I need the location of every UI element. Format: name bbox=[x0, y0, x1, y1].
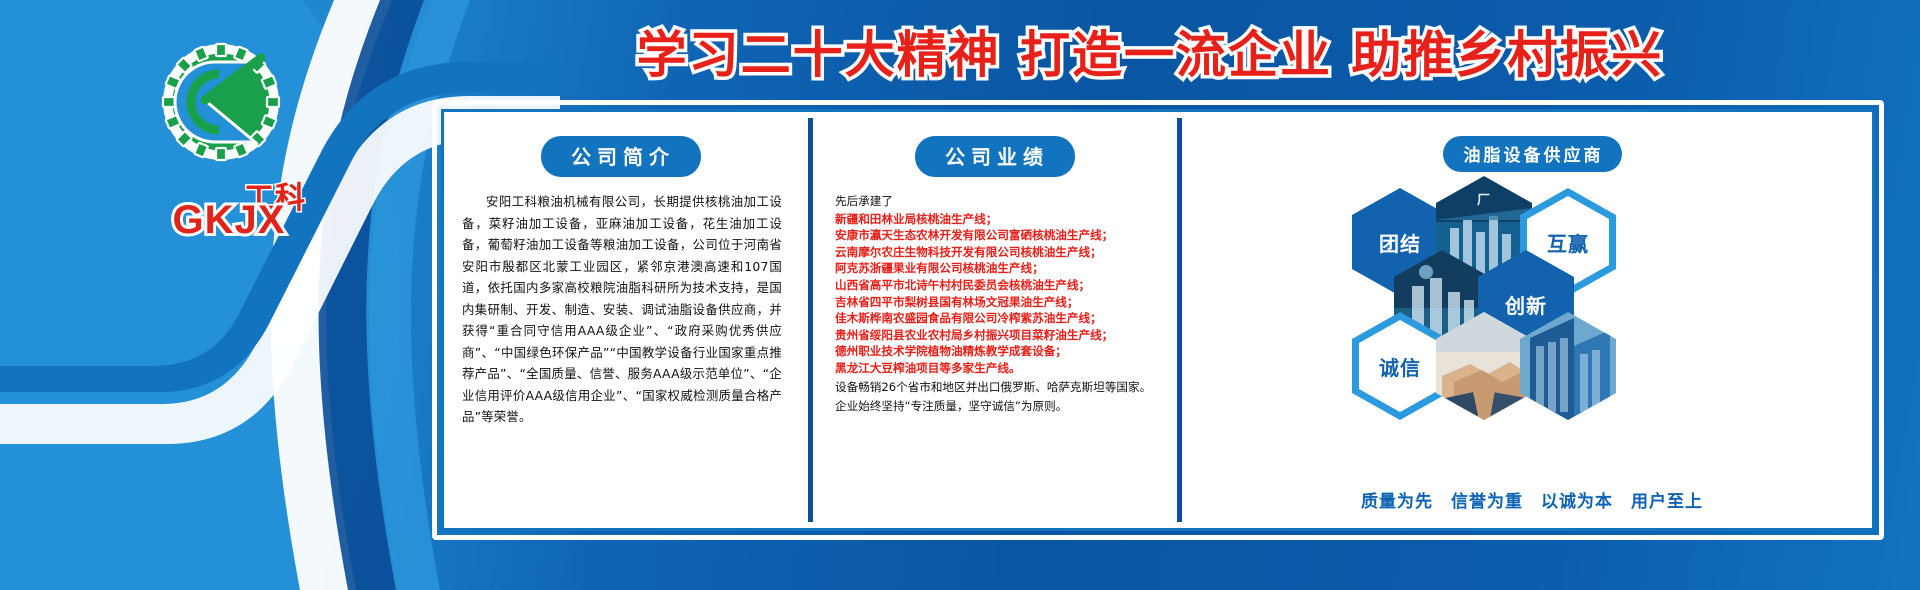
slogan-phrase: 信誉为重 bbox=[1451, 492, 1523, 512]
performance-item: 吉林省四平市梨树县国有林场文冠果油生产线； bbox=[835, 294, 1157, 311]
performance-item: 佳木斯桦南农盛园食品有限公司冷榨紫苏油生产线； bbox=[835, 310, 1157, 327]
performance-lead: 先后承建了 bbox=[835, 193, 1157, 210]
logo-en-text: GKJX bbox=[134, 198, 324, 243]
performance-item: 贵州省绥阳县农业农村局乡村振兴项目菜籽油生产线； bbox=[835, 327, 1157, 344]
hexagon-cluster: 团结 bbox=[1194, 182, 1870, 407]
supplier-slogan: 质量为先信誉为重以诚为本用户至上 bbox=[1194, 487, 1870, 512]
performance-item: 黑龙江大豆榨油项目等多家生产线。 bbox=[835, 360, 1157, 377]
performance-item: 安康市瀛天生态农林开发有限公司富硒核桃油生产线； bbox=[835, 227, 1157, 244]
svg-text:厂: 厂 bbox=[1477, 193, 1491, 208]
performance-list: 新疆和田林业局核桃油生产线；安康市瀛天生态农林开发有限公司富硒核桃油生产线；云南… bbox=[835, 211, 1157, 377]
performance-footer: 设备畅销26个省市和地区并出口俄罗斯、哈萨克斯坦等国家。企业始终坚持“专注质量，… bbox=[835, 379, 1157, 415]
performance-footer-line: 企业始终坚持“专注质量，坚守诚信”为原则。 bbox=[835, 398, 1157, 415]
panel-supplier-title: 油脂设备供应商 bbox=[1443, 136, 1622, 172]
content-frame: 公司简介 安阳工科粮油机械有限公司，长期提供核桃油加工设备，菜籽油加工设备，亚麻… bbox=[432, 100, 1884, 540]
hexagon-label: 创新 bbox=[1505, 290, 1547, 319]
panel-performance-title: 公司业绩 bbox=[915, 136, 1075, 177]
hexagon-label: 诚信 bbox=[1379, 352, 1421, 381]
poster-canvas: 工科 工科 GKJX GKJX 学习二十大精神 打造一流企业 助推乡村振兴 学习… bbox=[0, 0, 1920, 590]
panel-intro-title: 公司简介 bbox=[541, 136, 701, 177]
panel-company-intro: 公司简介 安阳工科粮油机械有限公司，长期提供核桃油加工设备，菜籽油加工设备，亚麻… bbox=[446, 114, 796, 526]
company-logo: 工科 工科 GKJX GKJX bbox=[126, 40, 316, 200]
slogan-phrase: 用户至上 bbox=[1631, 492, 1703, 512]
hexagon-label: 互赢 bbox=[1547, 228, 1589, 257]
performance-item: 云南摩尔农庄生物科技开发有限公司核桃油生产线； bbox=[835, 244, 1157, 261]
page-title-fill: 学习二十大精神 打造一流企业 助推乡村振兴 bbox=[430, 22, 1870, 88]
page-title: 学习二十大精神 打造一流企业 助推乡村振兴 学习二十大精神 打造一流企业 助推乡… bbox=[430, 22, 1870, 88]
performance-item: 德州职业技术学院植物油精炼教学成套设备； bbox=[835, 343, 1157, 360]
panel-intro-body: 安阳工科粮油机械有限公司，长期提供核桃油加工设备，菜籽油加工设备，亚麻油加工设备… bbox=[462, 191, 782, 428]
panel-performance-body: 先后承建了 新疆和田林业局核桃油生产线；安康市瀛天生态农林开发有限公司富硒核桃油… bbox=[835, 193, 1157, 415]
performance-item: 新疆和田林业局核桃油生产线； bbox=[835, 211, 1157, 228]
performance-footer-line: 设备畅销26个省市和地区并出口俄罗斯、哈萨克斯坦等国家。 bbox=[835, 379, 1157, 396]
panel-divider-1 bbox=[808, 118, 813, 522]
hexagon-label: 团结 bbox=[1379, 228, 1421, 257]
panel-divider-2 bbox=[1177, 118, 1182, 522]
panel-supplier: 油脂设备供应商 团结 bbox=[1194, 114, 1870, 526]
panels-row: 公司简介 安阳工科粮油机械有限公司，长期提供核桃油加工设备，菜籽油加工设备，亚麻… bbox=[446, 114, 1870, 526]
performance-item: 山西省高平市北诗午村村民委员会核桃油生产线； bbox=[835, 277, 1157, 294]
slogan-phrase: 质量为先 bbox=[1361, 492, 1433, 512]
panel-company-performance: 公司业绩 先后承建了 新疆和田林业局核桃油生产线；安康市瀛天生态农林开发有限公司… bbox=[825, 114, 1165, 526]
slogan-phrase: 以诚为本 bbox=[1541, 492, 1613, 512]
gear-emblem-icon bbox=[146, 40, 296, 180]
performance-item: 阿克苏浙疆果业有限公司核桃油生产线； bbox=[835, 260, 1157, 277]
